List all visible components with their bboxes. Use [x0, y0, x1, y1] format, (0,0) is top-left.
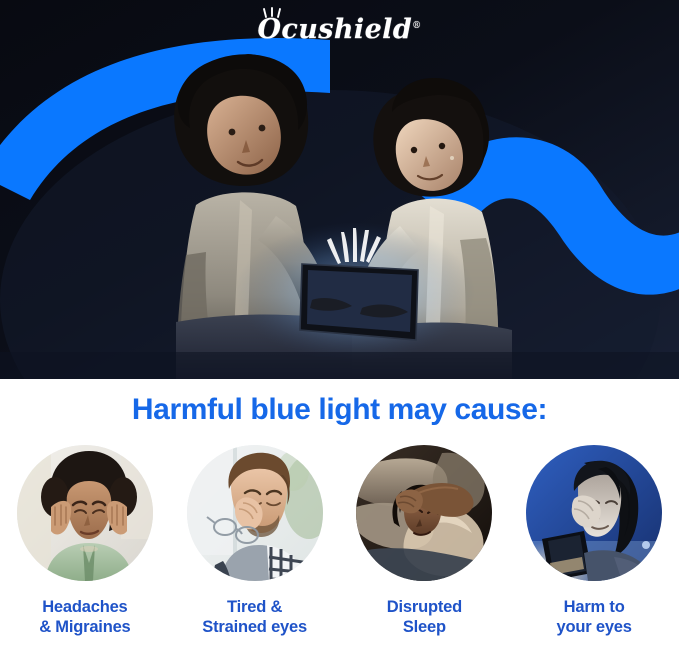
caption-line-2: Strained eyes [202, 617, 307, 637]
person-phone-night-photo [526, 445, 662, 581]
effects-panel: Harmful blue light may cause: [0, 379, 679, 661]
effect-card-caption: Disrupted Sleep [387, 597, 462, 637]
woman-sleepless-bed-photo [356, 445, 492, 581]
blue-light-infographic: Ocushield® Harmful blue light may cause: [0, 0, 679, 661]
man-rubbing-eyes-photo [187, 445, 323, 581]
hero-photo [0, 0, 679, 379]
page-title: Harmful blue light may cause: [0, 393, 679, 427]
effect-card-caption: Tired & Strained eyes [202, 597, 307, 637]
effect-card-headaches: Headaches & Migraines [0, 445, 170, 637]
effect-card-disrupted-sleep: Disrupted Sleep [340, 445, 510, 637]
woman-headache-photo [17, 445, 153, 581]
effect-card-caption: Headaches & Migraines [39, 597, 130, 637]
caption-line-1: Headaches [39, 597, 130, 617]
caption-line-1: Harm to [557, 597, 632, 617]
caption-line-1: Tired & [202, 597, 307, 617]
effect-card-caption: Harm to your eyes [557, 597, 632, 637]
caption-line-1: Disrupted [387, 597, 462, 617]
caption-line-2: Sleep [387, 617, 462, 637]
caption-line-2: your eyes [557, 617, 632, 637]
effects-card-list: Headaches & Migraines [0, 445, 679, 637]
effect-card-harm-eyes: Harm to your eyes [509, 445, 679, 637]
caption-line-2: & Migraines [39, 617, 130, 637]
hero-banner: Ocushield® [0, 0, 679, 379]
effect-card-tired-eyes: Tired & Strained eyes [170, 445, 340, 637]
